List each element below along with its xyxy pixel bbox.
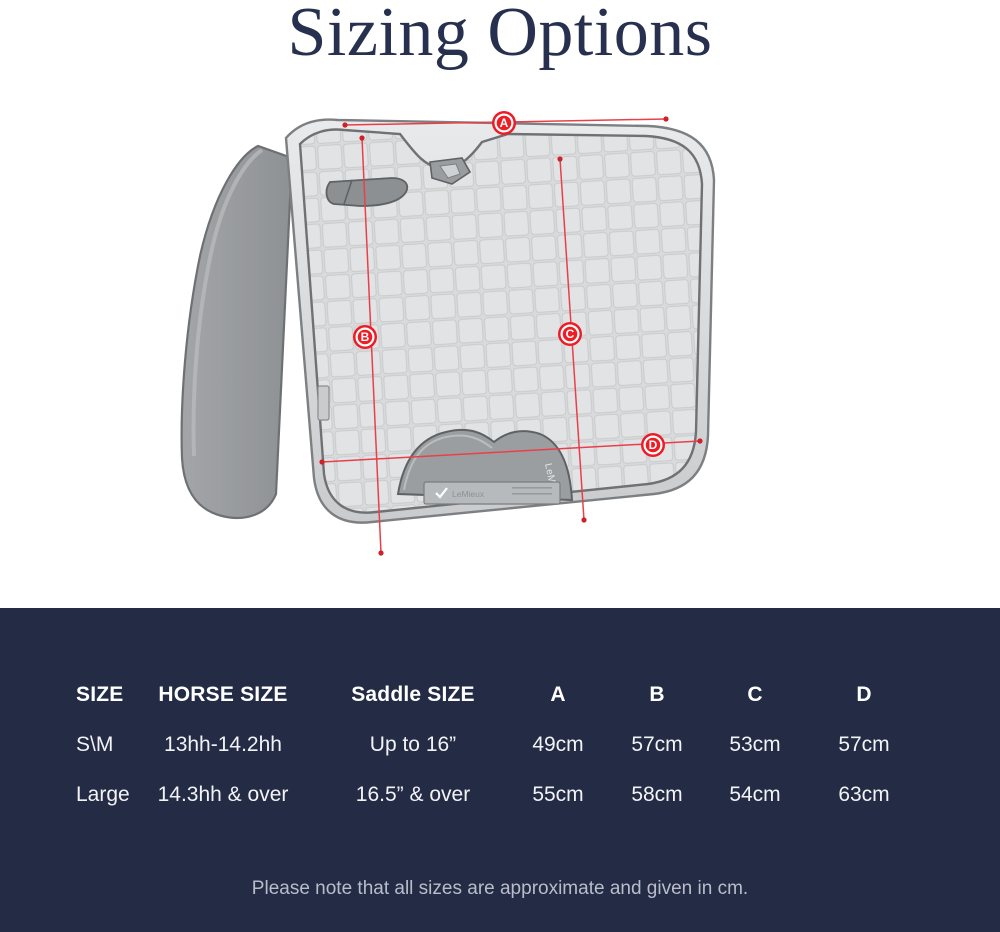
sizing-footnote: Please note that all sizes are approxima… xyxy=(0,878,1000,900)
marker-b: B xyxy=(353,325,377,349)
marker-b-label: B xyxy=(361,330,370,344)
size-table: SIZE HORSE SIZE Saddle SIZE A B C D S\M … xyxy=(0,670,1000,820)
header-b: B xyxy=(608,670,706,720)
table-header-row: SIZE HORSE SIZE Saddle SIZE A B C D xyxy=(0,670,1000,720)
cell-c: 53cm xyxy=(706,720,804,770)
cell-b: 58cm xyxy=(608,770,706,820)
header-horse-size: HORSE SIZE xyxy=(128,670,318,720)
cell-a: 55cm xyxy=(508,770,608,820)
marker-c: C xyxy=(558,322,582,346)
bottom-wear-patch: LeMieux LeMieux xyxy=(398,430,572,504)
cell-a: 49cm xyxy=(508,720,608,770)
table-row: S\M 13hh-14.2hh Up to 16” 49cm 57cm 53cm… xyxy=(0,720,1000,770)
cell-d: 63cm xyxy=(804,770,924,820)
marker-c-label: C xyxy=(566,327,575,341)
page-title: Sizing Options xyxy=(0,0,1000,70)
cell-horse-size: 14.3hh & over xyxy=(128,770,318,820)
header-saddle-size: Saddle SIZE xyxy=(318,670,508,720)
cell-c: 54cm xyxy=(706,770,804,820)
cell-saddle-size: 16.5” & over xyxy=(318,770,508,820)
pad-illustration: LeMieux LeMieux xyxy=(182,120,714,523)
header-c: C xyxy=(706,670,804,720)
sizing-diagram-section: Sizing Options xyxy=(0,0,1000,608)
pad-left-flap xyxy=(182,146,292,518)
cell-horse-size: 13hh-14.2hh xyxy=(128,720,318,770)
size-table-section: SIZE HORSE SIZE Saddle SIZE A B C D S\M … xyxy=(0,608,1000,932)
marker-d: D xyxy=(641,433,665,457)
cell-size: Large xyxy=(0,770,128,820)
cell-spacer xyxy=(924,720,1000,770)
cell-spacer xyxy=(924,770,1000,820)
table-row: Large 14.3hh & over 16.5” & over 55cm 58… xyxy=(0,770,1000,820)
marker-a: A xyxy=(492,111,516,135)
header-d: D xyxy=(804,670,924,720)
header-spacer xyxy=(924,670,1000,720)
header-a: A xyxy=(508,670,608,720)
cell-size: S\M xyxy=(0,720,128,770)
saddle-pad-diagram: LeMieux LeMieux xyxy=(0,86,1000,606)
cell-saddle-size: Up to 16” xyxy=(318,720,508,770)
marker-a-label: A xyxy=(500,116,509,130)
side-label xyxy=(318,386,329,420)
marker-d-label: D xyxy=(649,438,658,452)
header-size: SIZE xyxy=(0,670,128,720)
cell-d: 57cm xyxy=(804,720,924,770)
care-label-brand: LeMieux xyxy=(452,489,485,499)
cell-b: 57cm xyxy=(608,720,706,770)
